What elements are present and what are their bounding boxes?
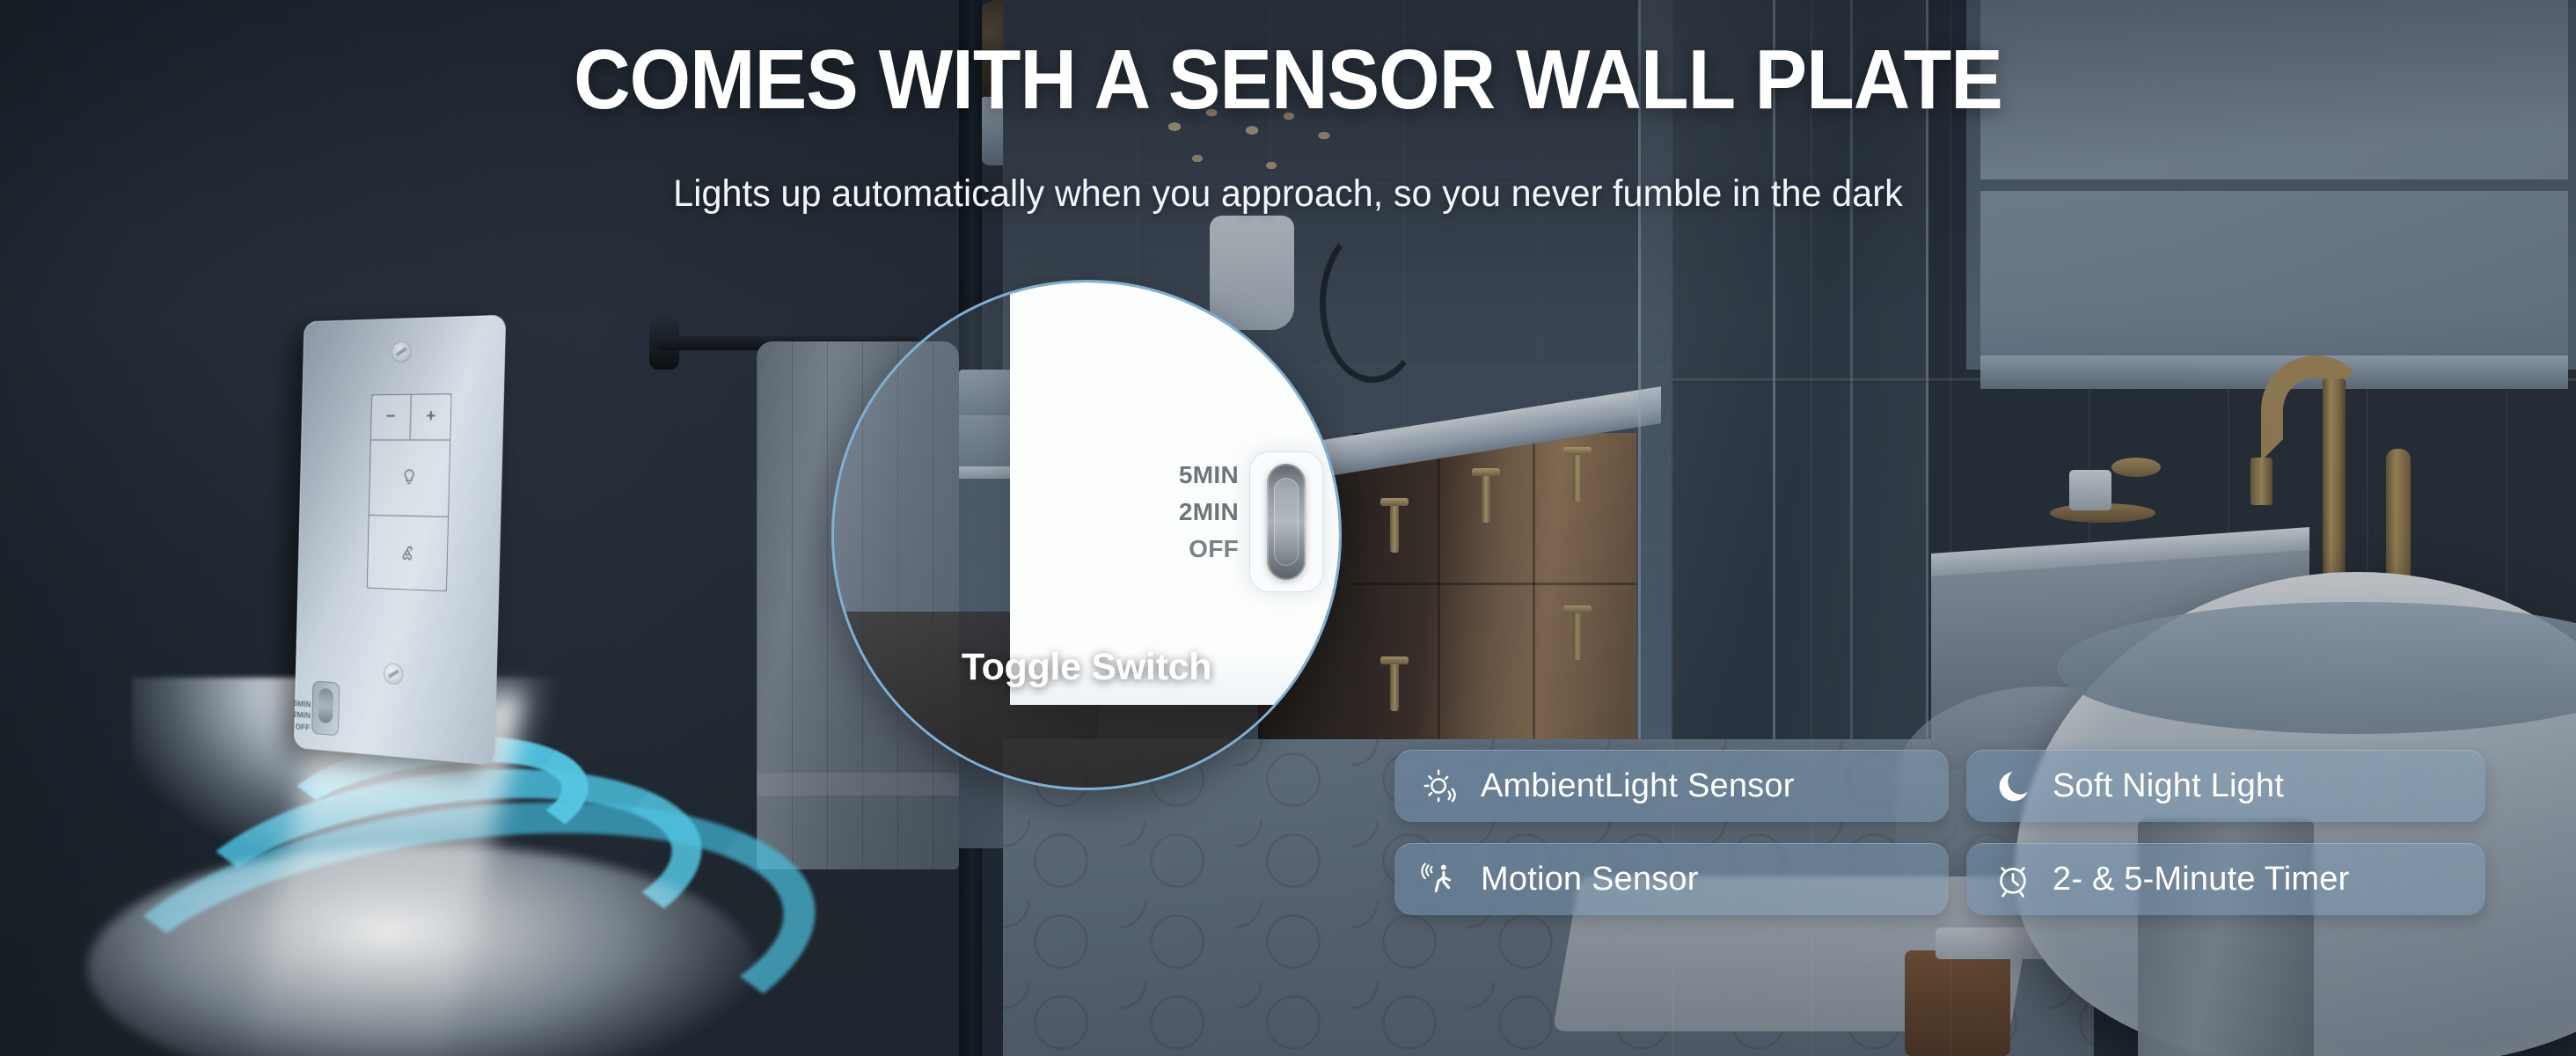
feature-pill-soft-night-light[interactable]: Soft Night Light: [1966, 750, 2485, 822]
feature-pill-timer[interactable]: 2- & 5-Minute Timer: [1966, 843, 2485, 915]
ambient-light-sensor-icon: [1421, 766, 1461, 806]
callout-toggle-switch[interactable]: [1249, 451, 1323, 592]
switch-button-group[interactable]: − +: [367, 393, 452, 591]
feature-pill-label: Soft Night Light: [2053, 767, 2284, 805]
feature-pill-label: Motion Sensor: [1481, 861, 1699, 898]
feature-pill-label: AmbientLight Sensor: [1481, 767, 1795, 805]
callout-label-2min: 2MIN: [1107, 494, 1239, 531]
plate-toggle-labels: 5MIN 2MIN OFF: [293, 698, 311, 734]
plate-label-2min: 2MIN: [293, 709, 311, 722]
page-title: COMES WITH A SENSOR WALL PLATE: [90, 39, 2485, 121]
feature-pill-grid: AmbientLight Sensor Soft Night Light: [1394, 750, 2485, 915]
alarm-clock-icon: [1993, 859, 2033, 899]
callout-label-5min: 5MIN: [1107, 457, 1239, 494]
feature-pill-ambient-light-sensor[interactable]: AmbientLight Sensor: [1394, 750, 1949, 822]
page-subtitle: Lights up automatically when you approac…: [52, 172, 2525, 216]
feature-pill-motion-sensor[interactable]: Motion Sensor: [1394, 843, 1949, 915]
plate-toggle-knob[interactable]: [318, 688, 333, 723]
callout-label-off: OFF: [1107, 531, 1239, 568]
callout-caption: Toggle Switch: [834, 646, 1339, 689]
moon-icon: [1993, 766, 2033, 806]
toggle-switch-callout: 5MIN 2MIN OFF Toggle Switch: [831, 280, 1342, 790]
plate-label-off: OFF: [293, 721, 311, 734]
callout-toggle-knob[interactable]: [1267, 464, 1306, 580]
motion-sensor-icon: [1421, 859, 1461, 899]
plate-timer-toggle[interactable]: [311, 680, 340, 736]
promo-banner: − + 5MIN 2MIN OFF: [0, 0, 2576, 1056]
sensor-wall-plate[interactable]: − + 5MIN 2MIN OFF: [294, 315, 506, 766]
callout-product-card: 5MIN 2MIN OFF: [1010, 280, 1342, 705]
feature-pill-label: 2- & 5-Minute Timer: [2053, 861, 2349, 898]
callout-toggle-labels: 5MIN 2MIN OFF: [1107, 457, 1239, 568]
